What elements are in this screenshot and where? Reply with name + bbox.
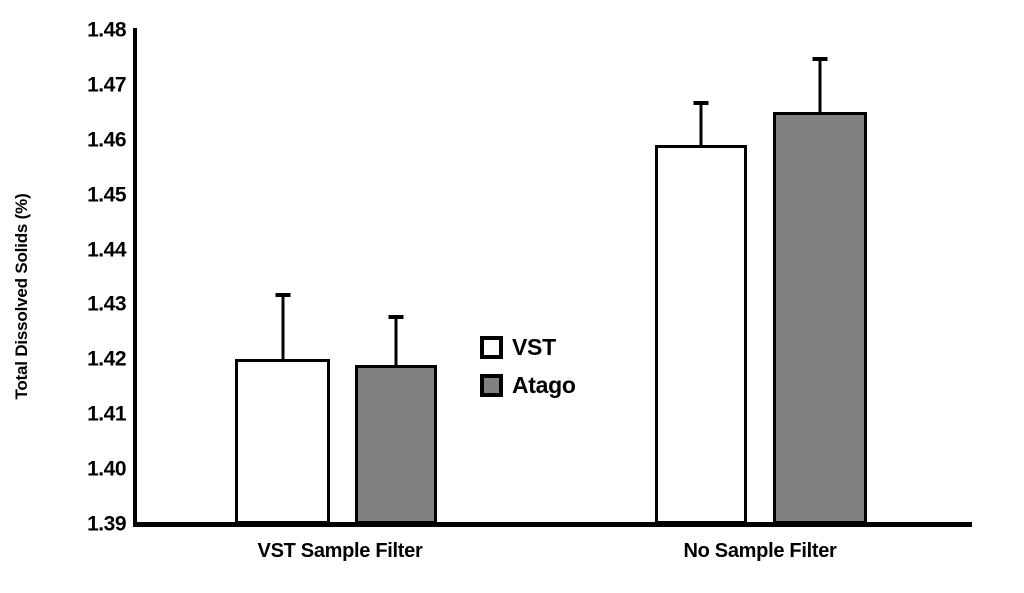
bar-chart-figure: Total Dissolved Solids (%) 1.481.471.461…: [0, 0, 1024, 593]
y-axis-tick-label: 1.41: [48, 404, 126, 425]
legend-item-label: VST: [512, 334, 556, 361]
y-axis-tick-label: 1.39: [48, 514, 126, 535]
y-axis-tick-label: 1.42: [48, 349, 126, 370]
plot-area: [133, 30, 972, 524]
y-axis-tick-label: 1.47: [48, 74, 126, 95]
error-bar-stem: [700, 101, 703, 145]
legend-swatch-icon: [480, 374, 503, 397]
legend-item: VST: [480, 328, 576, 366]
y-axis-tick-label: 1.48: [48, 20, 126, 41]
y-axis-tick-label: 1.43: [48, 294, 126, 315]
y-axis-tick-labels: 1.481.471.461.451.441.431.421.411.401.39: [46, 0, 126, 593]
bar: [655, 145, 747, 524]
error-bar-cap: [275, 293, 290, 297]
legend-swatch-icon: [480, 336, 503, 359]
error-bar-cap: [694, 101, 709, 105]
chart-legend: VSTAtago: [480, 328, 576, 404]
y-axis-title: Total Dissolved Solids (%): [0, 0, 44, 593]
error-bar-stem: [281, 293, 284, 359]
error-bar-cap: [813, 57, 828, 61]
x-axis-category-label: VST Sample Filter: [258, 540, 423, 563]
error-bar-stem: [819, 57, 822, 112]
bar: [235, 359, 330, 524]
error-bar-stem: [395, 315, 398, 364]
bar: [773, 112, 867, 524]
legend-item: Atago: [480, 366, 576, 404]
y-axis-tick-label: 1.46: [48, 129, 126, 150]
error-bar-cap: [389, 315, 404, 319]
y-axis-tick-label: 1.44: [48, 239, 126, 260]
y-axis-tick-label: 1.40: [48, 459, 126, 480]
x-axis-category-label: No Sample Filter: [683, 540, 836, 563]
legend-item-label: Atago: [512, 372, 576, 399]
y-axis-tick-label: 1.45: [48, 184, 126, 205]
bar: [355, 365, 437, 524]
